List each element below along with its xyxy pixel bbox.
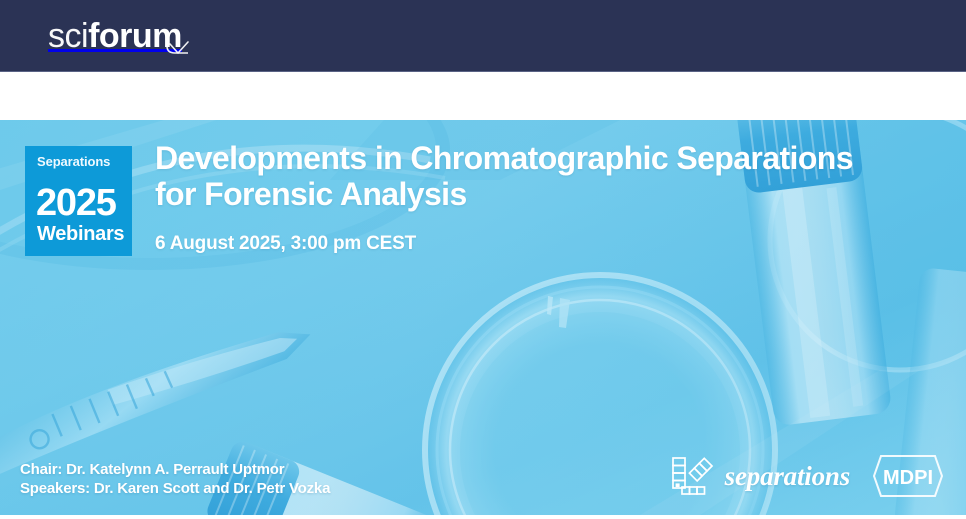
sciforum-logo[interactable]: sciforum — [48, 14, 198, 58]
badge-kind-label: Webinars — [25, 223, 132, 245]
speakers-line: Speakers: Dr. Karen Scott and Dr. Petr V… — [20, 479, 330, 498]
separations-wordmark: separations — [725, 463, 850, 490]
site-header: sciforum — [0, 0, 966, 72]
people-block: Chair: Dr. Katelynn A. Perrault Uptmor S… — [20, 460, 330, 498]
separations-columns-icon — [670, 455, 714, 497]
sciforum-wordmark: sciforum — [48, 19, 182, 53]
logo-text-sci: sci — [48, 17, 88, 55]
badge-journal-label: Separations — [25, 154, 132, 169]
footer-logos: separations MDPI — [670, 453, 944, 499]
svg-text:MDPI: MDPI — [883, 467, 933, 489]
event-datetime: 6 August 2025, 3:00 pm CEST — [155, 233, 855, 255]
hero-copy: Developments in Chromatographic Separati… — [155, 140, 855, 255]
separations-journal-logo[interactable]: separations — [670, 455, 850, 497]
webinar-announcement-page: sciforum — [0, 0, 966, 519]
header-spacer — [0, 72, 966, 120]
page-title: Developments in Chromatographic Separati… — [155, 140, 855, 212]
checkmark-swoosh-icon — [164, 30, 198, 65]
badge-year-label: 2025 — [25, 183, 132, 223]
mdpi-hexagon-icon[interactable]: MDPI — [872, 453, 944, 499]
chair-line: Chair: Dr. Katelynn A. Perrault Uptmor — [20, 460, 330, 479]
webinar-year-badge: Separations 2025 Webinars — [25, 146, 132, 256]
